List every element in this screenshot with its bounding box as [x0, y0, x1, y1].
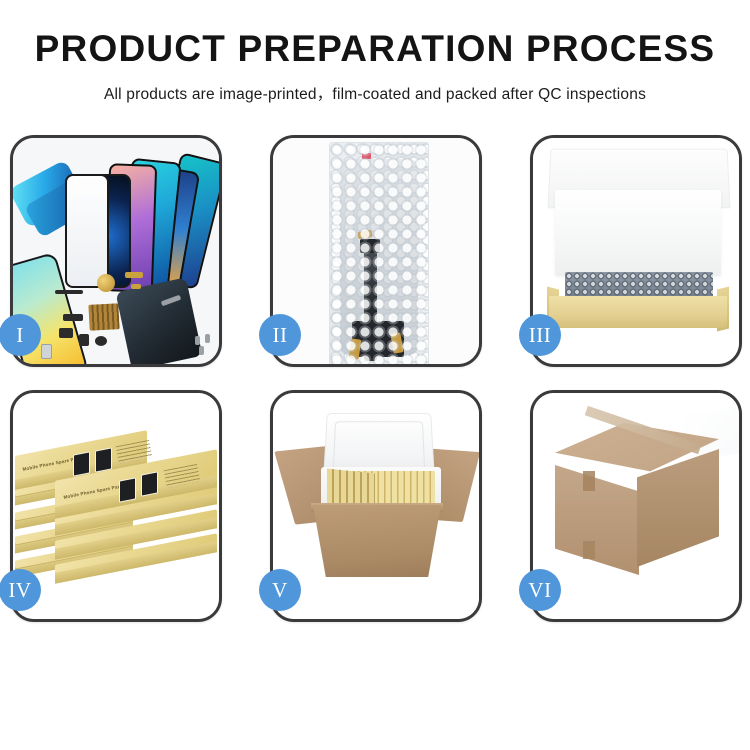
speaker-part-icon: [79, 334, 89, 346]
phone-chassis-icon: [115, 277, 202, 364]
carton-front-face-icon: [555, 465, 639, 575]
yellow-boxes-upright-icon: [327, 468, 375, 507]
phone-display-white-icon: [65, 174, 109, 288]
vibration-motor-icon: [97, 274, 115, 292]
step-4-image: Mobile Phone Spare Parts Mobile Phone Sp…: [13, 393, 219, 619]
step-2-image: [273, 138, 479, 364]
carton-seam-bottom-icon: [583, 541, 595, 559]
step-badge-2: II: [259, 314, 301, 356]
process-step-panel-3[interactable]: III: [530, 135, 742, 367]
foam-sheet-icon: [555, 190, 721, 276]
screw-3-icon: [199, 346, 204, 355]
process-step-panel-4[interactable]: Mobile Phone Spare Parts Mobile Phone Sp…: [10, 390, 222, 622]
small-part-icon: [59, 328, 73, 338]
gold-flex-icon: [125, 272, 143, 278]
page-header: PRODUCT PREPARATION PROCESS All products…: [0, 0, 750, 104]
process-step-grid: I II III: [10, 135, 743, 622]
step-badge-3: III: [519, 314, 561, 356]
page-subtitle: All products are image-printed，film-coat…: [0, 82, 750, 104]
box-front-panel-icon: [549, 296, 727, 328]
step-badge-4: IV: [0, 569, 41, 611]
screw-icon: [195, 336, 200, 345]
sim-tray-icon: [41, 344, 52, 359]
step-3-image: [533, 138, 739, 364]
flex-connector-icon: [360, 239, 380, 253]
flex-cable-icon: [63, 314, 83, 321]
earpiece-mesh-icon: [55, 290, 83, 294]
camera-module-icon: [95, 336, 107, 346]
carton-seam-top-icon: [583, 471, 595, 491]
gold-contact-icon: [131, 284, 141, 289]
page-title: PRODUCT PREPARATION PROCESS: [0, 30, 750, 69]
step-6-image: [533, 393, 739, 619]
box-screen-print-3: [119, 477, 136, 502]
process-step-panel-2[interactable]: II: [270, 135, 482, 367]
process-step-panel-6[interactable]: VI: [530, 390, 742, 622]
step-badge-5: V: [259, 569, 301, 611]
step-badge-1: I: [0, 314, 41, 356]
box-stack-icon: Mobile Phone Spare Parts Mobile Phone Sp…: [15, 413, 219, 605]
qc-sticker-icon: [362, 153, 371, 159]
carton-body-icon: [313, 505, 441, 577]
step-badge-6: VI: [519, 569, 561, 611]
connector-grid-icon: [88, 303, 119, 331]
screw-2-icon: [205, 334, 210, 343]
bubble-wrap-bag-icon: [329, 142, 429, 364]
process-step-panel-5[interactable]: V: [270, 390, 482, 622]
step-5-image: [273, 393, 479, 619]
step-1-image: [13, 138, 219, 364]
box-screen-print-4: [141, 471, 158, 496]
process-step-panel-1[interactable]: I: [10, 135, 222, 367]
